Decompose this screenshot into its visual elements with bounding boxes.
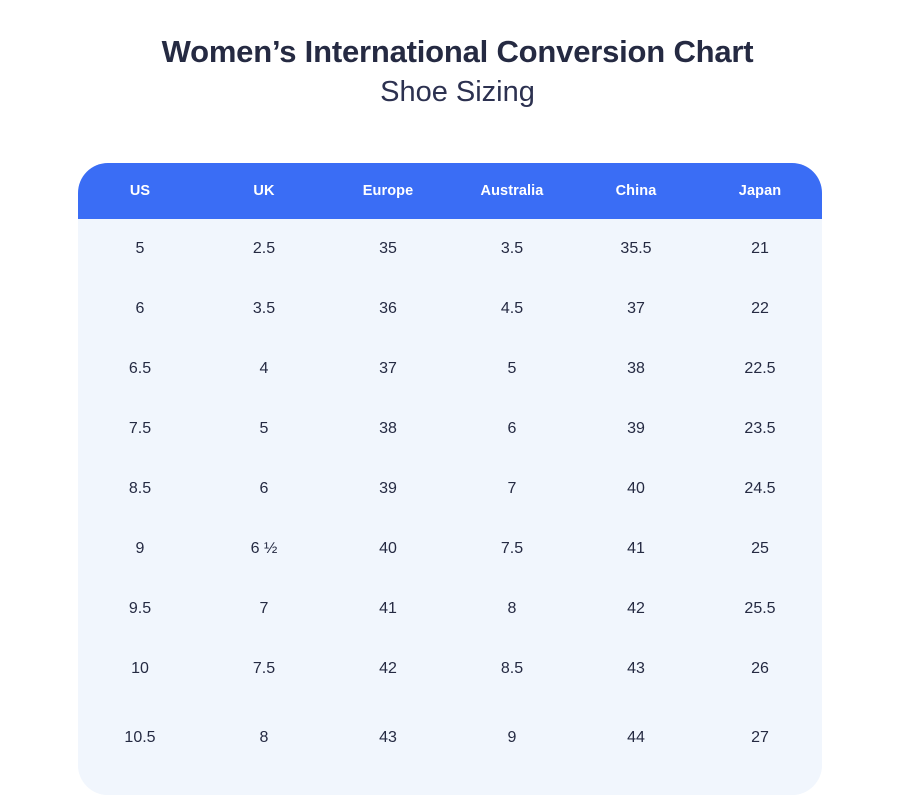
table-row: 5 2.5 35 3.5 35.5 21 (78, 219, 822, 279)
cell-europe: 38 (326, 399, 450, 459)
size-conversion-table: US UK Europe Australia China Japan 5 2.5… (78, 163, 822, 795)
cell-us: 5 (78, 219, 202, 279)
cell-china: 35.5 (574, 219, 698, 279)
cell-australia: 4.5 (450, 279, 574, 339)
table-header: US UK Europe Australia China Japan (78, 163, 822, 219)
table-row: 9.5 7 41 8 42 25.5 (78, 579, 822, 639)
cell-uk: 2.5 (202, 219, 326, 279)
cell-europe: 41 (326, 579, 450, 639)
table-row: 10 7.5 42 8.5 43 26 (78, 639, 822, 699)
cell-uk: 8 (202, 699, 326, 795)
cell-japan: 25.5 (698, 579, 822, 639)
cell-europe: 37 (326, 339, 450, 399)
cell-china: 37 (574, 279, 698, 339)
cell-australia: 8.5 (450, 639, 574, 699)
cell-australia: 7 (450, 459, 574, 519)
cell-japan: 27 (698, 699, 822, 795)
column-header-uk[interactable]: UK (202, 163, 326, 219)
conversion-chart-page: Women’s International Conversion Chart S… (0, 0, 915, 777)
cell-china: 39 (574, 399, 698, 459)
cell-australia: 6 (450, 399, 574, 459)
cell-australia: 8 (450, 579, 574, 639)
column-header-australia[interactable]: Australia (450, 163, 574, 219)
cell-europe: 43 (326, 699, 450, 795)
column-header-us[interactable]: US (78, 163, 202, 219)
cell-australia: 3.5 (450, 219, 574, 279)
cell-europe: 39 (326, 459, 450, 519)
cell-us: 8.5 (78, 459, 202, 519)
cell-japan: 22 (698, 279, 822, 339)
cell-uk: 4 (202, 339, 326, 399)
table-row: 6 3.5 36 4.5 37 22 (78, 279, 822, 339)
cell-china: 40 (574, 459, 698, 519)
cell-japan: 24.5 (698, 459, 822, 519)
page-title: Women’s International Conversion Chart (0, 33, 915, 71)
cell-us: 10 (78, 639, 202, 699)
table-row: 7.5 5 38 6 39 23.5 (78, 399, 822, 459)
column-header-europe[interactable]: Europe (326, 163, 450, 219)
table-body: 5 2.5 35 3.5 35.5 21 6 3.5 36 4.5 37 22 … (78, 219, 822, 795)
column-header-japan[interactable]: Japan (698, 163, 822, 219)
cell-china: 42 (574, 579, 698, 639)
cell-uk: 3.5 (202, 279, 326, 339)
cell-china: 38 (574, 339, 698, 399)
cell-uk: 6 (202, 459, 326, 519)
cell-china: 44 (574, 699, 698, 795)
cell-japan: 26 (698, 639, 822, 699)
cell-us: 6 (78, 279, 202, 339)
cell-us: 6.5 (78, 339, 202, 399)
cell-uk: 7.5 (202, 639, 326, 699)
cell-uk: 5 (202, 399, 326, 459)
table-row: 8.5 6 39 7 40 24.5 (78, 459, 822, 519)
column-header-china[interactable]: China (574, 163, 698, 219)
cell-japan: 22.5 (698, 339, 822, 399)
cell-uk: 7 (202, 579, 326, 639)
chart-heading: Women’s International Conversion Chart S… (0, 0, 915, 112)
table-header-row: US UK Europe Australia China Japan (78, 163, 822, 219)
cell-europe: 36 (326, 279, 450, 339)
cell-china: 41 (574, 519, 698, 579)
table-row: 9 6 ½ 40 7.5 41 25 (78, 519, 822, 579)
cell-europe: 35 (326, 219, 450, 279)
cell-us: 7.5 (78, 399, 202, 459)
cell-europe: 42 (326, 639, 450, 699)
cell-us: 9 (78, 519, 202, 579)
cell-australia: 7.5 (450, 519, 574, 579)
cell-europe: 40 (326, 519, 450, 579)
size-conversion-table-container: US UK Europe Australia China Japan 5 2.5… (78, 163, 822, 795)
cell-japan: 23.5 (698, 399, 822, 459)
cell-australia: 5 (450, 339, 574, 399)
cell-japan: 25 (698, 519, 822, 579)
table-row: 10.5 8 43 9 44 27 (78, 699, 822, 795)
cell-china: 43 (574, 639, 698, 699)
table-row: 6.5 4 37 5 38 22.5 (78, 339, 822, 399)
page-subtitle: Shoe Sizing (0, 74, 915, 112)
cell-japan: 21 (698, 219, 822, 279)
cell-us: 9.5 (78, 579, 202, 639)
cell-uk: 6 ½ (202, 519, 326, 579)
cell-australia: 9 (450, 699, 574, 795)
cell-us: 10.5 (78, 699, 202, 795)
